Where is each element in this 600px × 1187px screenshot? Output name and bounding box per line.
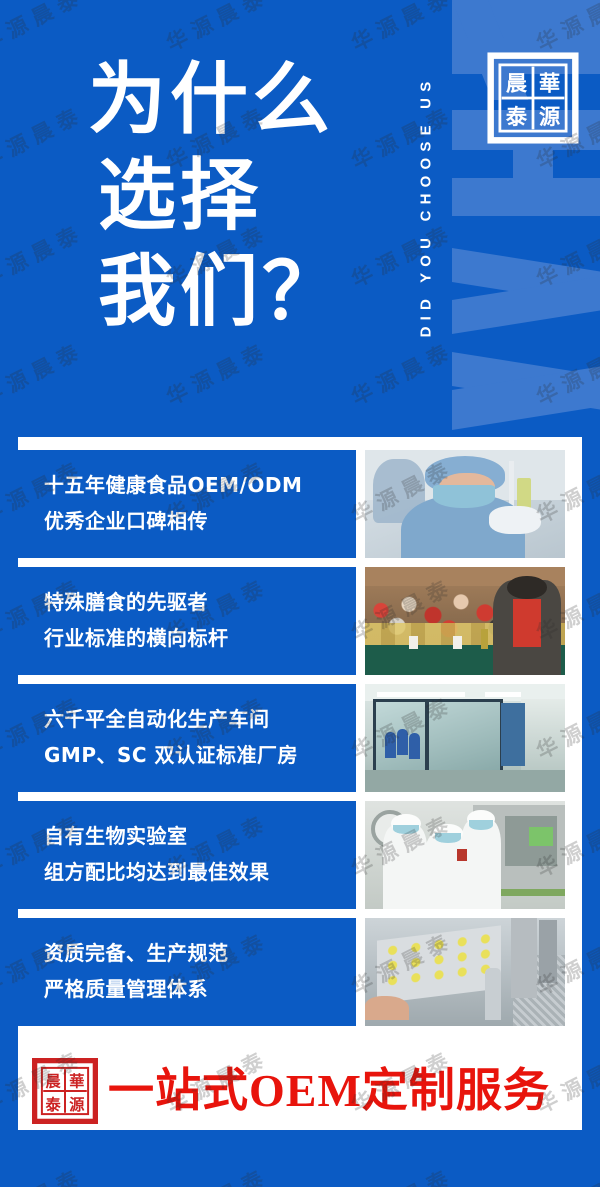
feature-card: 资质完备、生产规范 严格质量管理体系: [18, 918, 582, 1026]
footer-banner: 晨 華 泰 源 一站式OEM定制服务: [18, 1053, 582, 1129]
capsule-packaging-photo: [365, 918, 565, 1026]
feature-card: 六千平全自动化生产车间 GMP、SC 双认证标准厂房: [18, 684, 582, 792]
footer-slogan: 一站式OEM定制服务: [108, 1065, 550, 1117]
vertical-tagline-text: DID YOU CHOOSE US: [418, 27, 435, 387]
brand-seal-icon-white: 晨 華 泰 源: [487, 52, 579, 144]
feature-card-text: 六千平全自动化生产车间 GMP、SC 双认证标准厂房: [18, 684, 356, 792]
feature-card-text: 自有生物实验室 组方配比均达到最佳效果: [18, 801, 356, 909]
headline-line-1: 为什么: [88, 52, 408, 148]
feature-line-2: 严格质量管理体系: [44, 971, 356, 1007]
feature-card-text: 资质完备、生产规范 严格质量管理体系: [18, 918, 356, 1026]
feature-line-1: 六千平全自动化生产车间: [44, 701, 356, 737]
feature-card: 特殊膳食的先驱者 行业标准的横向标杆: [18, 567, 582, 675]
cleanroom-corridor-photo: [365, 684, 565, 792]
feature-card-list: 十五年健康食品OEM/ODM 优秀企业口碑相传 特殊膳食的先驱者 行业标准的横向…: [18, 450, 582, 1035]
watermark-text: 华源晨泰: [478, 160, 600, 349]
svg-text:泰: 泰: [45, 1096, 62, 1114]
headline-line-2: 选择: [88, 148, 408, 244]
conference-audience-photo: [365, 567, 565, 675]
production-line-workers-photo: [365, 801, 565, 909]
svg-text:晨: 晨: [46, 1072, 62, 1090]
feature-line-1: 十五年健康食品OEM/ODM: [44, 467, 356, 503]
poster-headline: 为什么 选择 我们？: [88, 52, 408, 340]
why-letter-y-part: [452, 352, 600, 413]
svg-text:華: 華: [69, 1072, 84, 1090]
svg-text:泰: 泰: [506, 104, 528, 129]
svg-text:源: 源: [69, 1096, 85, 1114]
feature-line-2: 组方配比均达到最佳效果: [44, 854, 356, 890]
brand-seal-icon-red: 晨 華 泰 源: [32, 1058, 98, 1124]
promotional-poster: 为什么 选择 我们？ DID YOU CHOOSE US 晨 華 泰 源 十五年…: [0, 0, 600, 1187]
lab-technician-photo: [365, 450, 565, 558]
feature-card: 十五年健康食品OEM/ODM 优秀企业口碑相传: [18, 450, 582, 558]
svg-text:晨: 晨: [506, 71, 528, 96]
feature-line-2: 行业标准的横向标杆: [44, 620, 356, 656]
svg-text:華: 華: [539, 71, 560, 96]
feature-card-text: 十五年健康食品OEM/ODM 优秀企业口碑相传: [18, 450, 356, 558]
why-letter-w-part: [452, 0, 600, 38]
vertical-tagline: DID YOU CHOOSE US: [396, 28, 430, 390]
feature-line-1: 自有生物实验室: [44, 818, 356, 854]
feature-line-1: 资质完备、生产规范: [44, 935, 356, 971]
feature-card-text: 特殊膳食的先驱者 行业标准的横向标杆: [18, 567, 356, 675]
svg-text:源: 源: [539, 104, 560, 129]
feature-line-1: 特殊膳食的先驱者: [44, 584, 356, 620]
why-letter-h-part: [452, 178, 600, 216]
why-letter-y-part: [452, 363, 600, 430]
why-letter-y-part: [452, 248, 600, 309]
headline-line-3: 我们？: [88, 244, 408, 340]
feature-card: 自有生物实验室 组方配比均达到最佳效果: [18, 801, 582, 909]
feature-line-2: 优秀企业口碑相传: [44, 503, 356, 539]
why-letter-y-part: [452, 273, 600, 334]
feature-line-2: GMP、SC 双认证标准厂房: [44, 737, 356, 773]
